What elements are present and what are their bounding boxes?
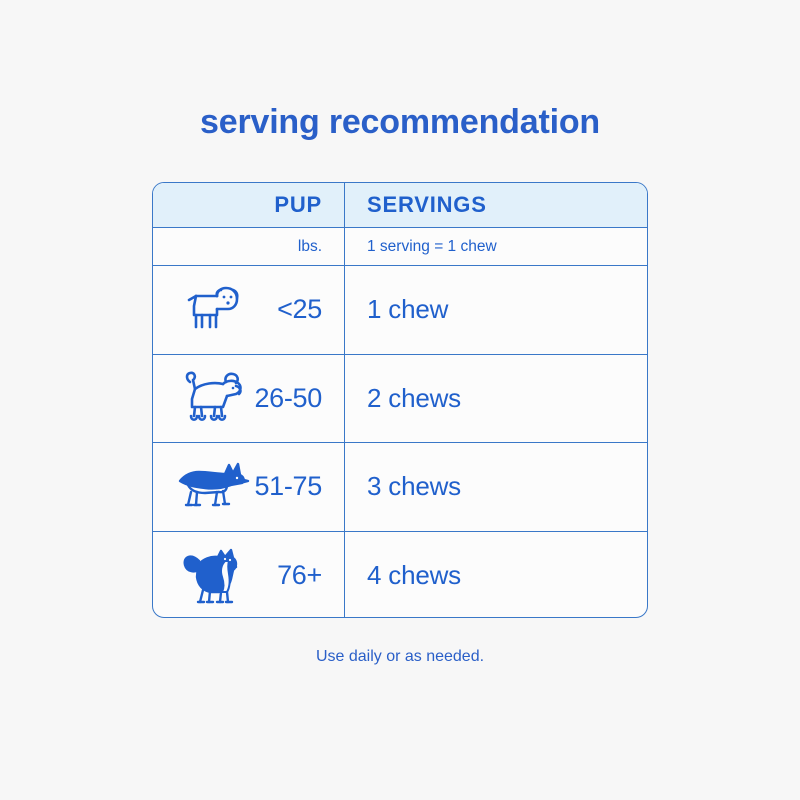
serving-table: PUP SERVINGS lbs. 1 serving = 1 chew — [152, 182, 648, 618]
subheader-cell-servings: 1 serving = 1 chew — [345, 228, 647, 265]
subheader-label-units: lbs. — [153, 238, 344, 256]
table-header-row: PUP SERVINGS — [153, 183, 647, 228]
header-cell-servings: SERVINGS — [345, 183, 647, 227]
table-row: 76+ 4 chews — [153, 532, 647, 619]
footnote-text: Use daily or as needed. — [0, 648, 800, 666]
row-servings-value: 3 chews — [367, 471, 461, 502]
row-cell-servings: 3 chews — [345, 443, 647, 531]
row-cell-servings: 4 chews — [345, 532, 647, 619]
row-cell-pup: 51-75 — [153, 443, 345, 531]
row-cell-servings: 2 chews — [345, 355, 647, 443]
subheader-label-serving-equivalence: 1 serving = 1 chew — [367, 238, 497, 256]
table-subheader-row: lbs. 1 serving = 1 chew — [153, 228, 647, 266]
row-servings-value: 4 chews — [367, 560, 461, 591]
header-label-pup: PUP — [153, 192, 344, 218]
small-dog-icon — [169, 275, 259, 345]
row-cell-pup: <25 — [153, 266, 345, 354]
table-row: 51-75 3 chews — [153, 443, 647, 532]
serving-recommendation-card: serving recommendation PUP SERVINGS lbs.… — [0, 0, 800, 800]
row-servings-value: 1 chew — [367, 294, 448, 325]
shepherd-dog-icon — [169, 452, 259, 522]
husky-dog-icon — [169, 541, 259, 611]
row-cell-pup: 76+ — [153, 532, 345, 619]
table-row: 26-50 2 chews — [153, 355, 647, 444]
header-cell-pup: PUP — [153, 183, 345, 227]
row-cell-pup: 26-50 — [153, 355, 345, 443]
row-cell-servings: 1 chew — [345, 266, 647, 354]
table-row: <25 1 chew — [153, 266, 647, 355]
row-servings-value: 2 chews — [367, 383, 461, 414]
page-title: serving recommendation — [0, 103, 800, 142]
subheader-cell-pup: lbs. — [153, 228, 345, 265]
header-label-servings: SERVINGS — [367, 192, 487, 218]
poodle-dog-icon — [169, 363, 259, 433]
